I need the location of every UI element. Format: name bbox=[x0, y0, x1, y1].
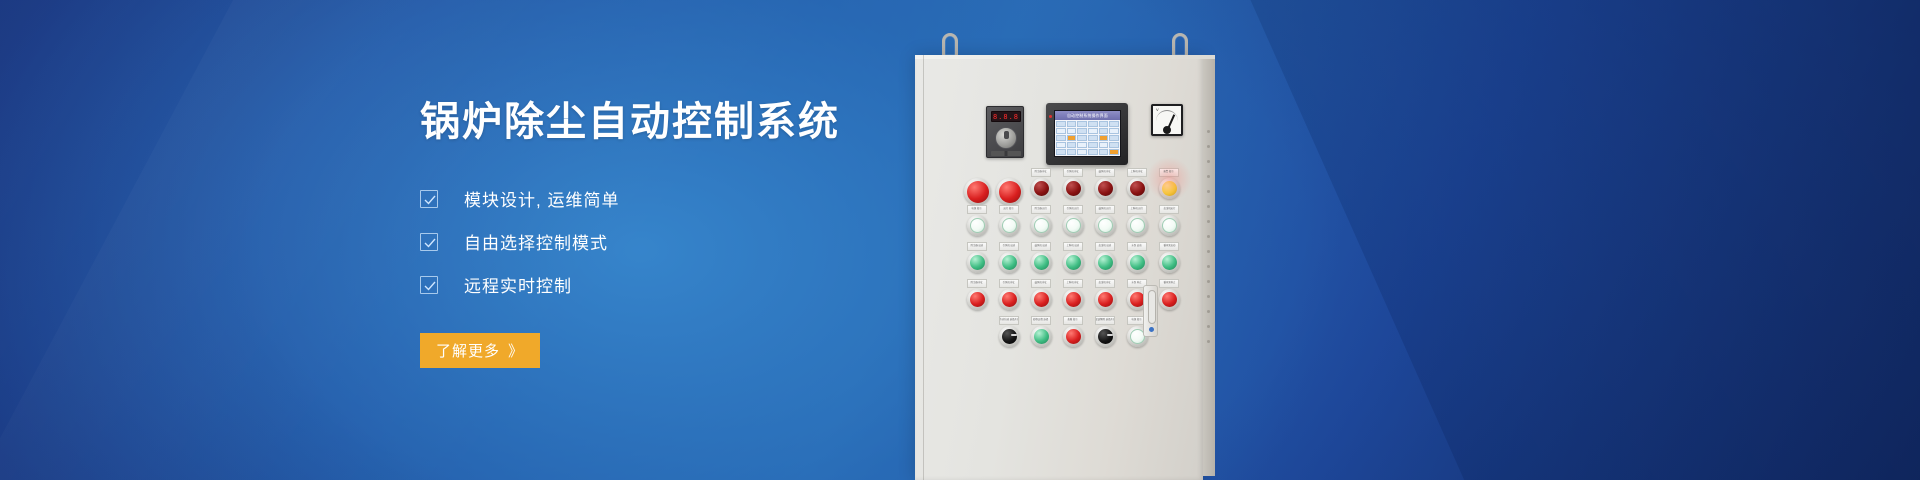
panel-button-body[interactable] bbox=[967, 289, 988, 310]
panel-button-body[interactable] bbox=[1031, 326, 1052, 347]
feature-label: 模块设计, 运维简单 bbox=[464, 186, 619, 211]
panel-button[interactable]: 鼓风机 停止 bbox=[1028, 279, 1054, 310]
feature-label: 自由选择控制模式 bbox=[464, 229, 608, 254]
hero-banner: 锅炉除尘自动控制系统 模块设计, 运维简单 自由选择控制模式 bbox=[0, 0, 1920, 480]
panel-button[interactable]: 出渣机 启动 bbox=[1092, 242, 1118, 273]
panel-button-tag-text: 出渣机 停止 bbox=[1099, 282, 1111, 285]
panel-button-body[interactable] bbox=[1095, 326, 1116, 347]
panel-button[interactable]: 上料机 启动 bbox=[1060, 242, 1086, 273]
panel-button-tag-text: 上料机 停止 bbox=[1067, 282, 1079, 285]
panel-button-tag-text: 故障 指示 bbox=[1068, 319, 1078, 322]
handle-slot bbox=[1148, 290, 1156, 324]
panel-button-body[interactable] bbox=[964, 178, 991, 205]
panel-button[interactable]: 急停 bbox=[964, 168, 990, 205]
panel-button-tag-text: 除尘器 停止 bbox=[1035, 171, 1047, 174]
panel-button-body[interactable] bbox=[996, 178, 1023, 205]
panel-button-lamp bbox=[967, 181, 989, 203]
panel-button-body[interactable] bbox=[1159, 252, 1180, 273]
panel-button-body[interactable] bbox=[999, 326, 1020, 347]
panel-button-lamp bbox=[1162, 255, 1177, 270]
panel-button[interactable]: 电源 指示 bbox=[964, 205, 990, 236]
panel-button-tag-text: 鼓风机 运行 bbox=[1099, 208, 1111, 211]
panel-button-tag: 循环泵停止 bbox=[1159, 279, 1179, 288]
panel-button[interactable]: 水泵 启动 bbox=[1124, 242, 1150, 273]
panel-button[interactable]: 除尘器 停止 bbox=[964, 279, 990, 310]
panel-button-tag-text: 循环泵启动 bbox=[1163, 245, 1175, 248]
panel-button-lamp bbox=[970, 292, 985, 307]
panel-button-body[interactable] bbox=[967, 252, 988, 273]
chevron-right-icon: 》 bbox=[508, 340, 524, 361]
panel-button-tag-text: 鼓风机 停止 bbox=[1099, 171, 1111, 174]
panel-button[interactable]: 就地/远程 选择 bbox=[1028, 316, 1054, 347]
panel-button[interactable]: 连锁/解除 选择开关 bbox=[1092, 316, 1118, 347]
panel-button-body[interactable] bbox=[999, 215, 1020, 236]
panel-button[interactable]: 鼓风机 启动 bbox=[1028, 242, 1054, 273]
panel-button[interactable]: 鼓风机 运行 bbox=[1092, 205, 1118, 236]
panel-button-body[interactable] bbox=[1031, 289, 1052, 310]
panel-button-tag: 出渣机 启动 bbox=[1095, 242, 1115, 251]
panel-button-tag: 故障 指示 bbox=[1063, 316, 1083, 325]
check-box-icon bbox=[420, 276, 438, 294]
panel-button-lamp bbox=[1002, 255, 1017, 270]
panel-button-body[interactable] bbox=[1063, 178, 1084, 199]
panel-button[interactable]: 引风机 停止 bbox=[1060, 168, 1086, 199]
panel-button-lamp bbox=[1162, 218, 1177, 233]
door-lock-icon[interactable] bbox=[1149, 327, 1154, 332]
panel-button-tag-text: 电源 指示 bbox=[972, 208, 982, 211]
panel-button-tag: 除尘器 停止 bbox=[1031, 168, 1051, 177]
feature-item-1: 模块设计, 运维简单 bbox=[420, 182, 980, 215]
panel-button-body[interactable] bbox=[1127, 178, 1148, 199]
panel-button-body[interactable] bbox=[1063, 215, 1084, 236]
door-handle[interactable] bbox=[1143, 285, 1158, 337]
panel-button-lamp bbox=[1002, 292, 1017, 307]
panel-button-tag-text: 除尘器 停止 bbox=[971, 282, 983, 285]
panel-button-body[interactable] bbox=[1063, 252, 1084, 273]
panel-button-lamp bbox=[1066, 218, 1081, 233]
panel-button-body[interactable] bbox=[1095, 289, 1116, 310]
panel-button-lamp bbox=[970, 218, 985, 233]
panel-button-tag-text: 出渣机运行 bbox=[1163, 208, 1175, 211]
panel-button-tag-text: 出渣机 启动 bbox=[1099, 245, 1111, 248]
panel-button[interactable]: 出渣机运行 bbox=[1156, 205, 1182, 236]
panel-button-tag: 循环泵启动 bbox=[1159, 242, 1179, 251]
feature-item-3: 远程实时控制 bbox=[420, 268, 980, 301]
panel-button-tag: 上料机 停止 bbox=[1127, 168, 1147, 177]
panel-button-tag-text: 运行 指示 bbox=[1004, 208, 1014, 211]
cabinet-hinge-column bbox=[1207, 130, 1211, 355]
page-title: 锅炉除尘自动控制系统 bbox=[420, 100, 980, 144]
panel-button-tag: 就地/远程 选择 bbox=[1031, 316, 1051, 325]
panel-button-lamp bbox=[999, 181, 1021, 203]
feature-item-2: 自由选择控制模式 bbox=[420, 225, 980, 258]
panel-button-tag-text: 报警 指示 bbox=[1164, 171, 1174, 174]
panel-button-tag: 鼓风机 启动 bbox=[1031, 242, 1051, 251]
panel-button-tag-text: 除尘器 启动 bbox=[971, 245, 983, 248]
panel-button-tag-text: 引风机 启动 bbox=[1003, 245, 1015, 248]
panel-button-tag: 除尘器 停止 bbox=[967, 279, 987, 288]
panel-button-body[interactable] bbox=[999, 252, 1020, 273]
panel-button[interactable]: 出渣机 停止 bbox=[1092, 279, 1118, 310]
panel-button-lamp bbox=[1034, 181, 1049, 196]
panel-button-lamp bbox=[1066, 181, 1081, 196]
panel-button-tag: 报警 指示 bbox=[1159, 168, 1179, 177]
panel-button-body[interactable] bbox=[1159, 178, 1180, 199]
feature-list: 模块设计, 运维简单 自由选择控制模式 远程实时控制 bbox=[420, 182, 980, 301]
panel-button[interactable]: 上料机 停止 bbox=[1060, 279, 1086, 310]
panel-button-tag-text: 引风机 运行 bbox=[1067, 208, 1079, 211]
panel-button-tag: 连锁/解除 选择开关 bbox=[1095, 316, 1115, 325]
panel-button-tag-text: 鼓风机 启动 bbox=[1035, 245, 1047, 248]
panel-button-body[interactable] bbox=[1031, 252, 1052, 273]
learn-more-button[interactable]: 了解更多 》 bbox=[420, 333, 540, 368]
button-matrix: 急停复位除尘器 停止引风机 停止鼓风机 停止上料机 停止报警 指示电源 指示运行… bbox=[915, 0, 1203, 425]
panel-button-lamp bbox=[1162, 292, 1177, 307]
panel-button-tag-text: 就地/远程 选择 bbox=[1033, 319, 1048, 322]
panel-button-lamp bbox=[1034, 255, 1049, 270]
panel-button-lamp bbox=[1098, 255, 1113, 270]
panel-button-lamp bbox=[1130, 218, 1145, 233]
panel-button-tag-text: 除尘器 运行 bbox=[1035, 208, 1047, 211]
panel-button-lamp bbox=[1034, 329, 1049, 344]
check-box-icon bbox=[420, 233, 438, 251]
panel-button[interactable]: 循环泵停止 bbox=[1156, 279, 1182, 310]
panel-button-tag-text: 鼓风机 停止 bbox=[1035, 282, 1047, 285]
panel-button-lamp bbox=[1098, 218, 1113, 233]
panel-button-lamp bbox=[1098, 329, 1113, 344]
panel-button[interactable]: 故障 指示 bbox=[1060, 316, 1086, 347]
panel-button-tag: 鼓风机 停止 bbox=[1031, 279, 1051, 288]
panel-button[interactable]: 上料机 停止 bbox=[1124, 168, 1150, 199]
check-box-icon bbox=[420, 190, 438, 208]
hero-copy: 锅炉除尘自动控制系统 模块设计, 运维简单 自由选择控制模式 bbox=[420, 100, 980, 368]
panel-button-tag: 鼓风机 运行 bbox=[1095, 205, 1115, 214]
panel-button-body[interactable] bbox=[1159, 289, 1180, 310]
panel-button[interactable]: 除尘器 运行 bbox=[1028, 205, 1054, 236]
panel-button[interactable]: 引风机 启动 bbox=[996, 242, 1022, 273]
panel-button-lamp bbox=[1034, 292, 1049, 307]
panel-button-tag-text: 上料机 停止 bbox=[1131, 171, 1143, 174]
panel-button-lamp bbox=[1066, 292, 1081, 307]
panel-button-lamp bbox=[1130, 181, 1145, 196]
panel-button[interactable]: 手动/自动 选择开关 bbox=[996, 316, 1022, 347]
panel-button[interactable]: 复位 bbox=[996, 168, 1022, 205]
cta-label: 了解更多 bbox=[436, 340, 500, 361]
panel-button-tag: 出渣机运行 bbox=[1159, 205, 1179, 214]
panel-button-tag: 出渣机 停止 bbox=[1095, 279, 1115, 288]
panel-button-tag: 引风机 启动 bbox=[999, 242, 1019, 251]
feature-label: 远程实时控制 bbox=[464, 272, 572, 297]
panel-button-body[interactable] bbox=[1159, 215, 1180, 236]
panel-button[interactable]: 引风机 运行 bbox=[1060, 205, 1086, 236]
panel-button-tag: 上料机 停止 bbox=[1063, 279, 1083, 288]
panel-button-body[interactable] bbox=[999, 289, 1020, 310]
panel-button[interactable]: 除尘器 启动 bbox=[964, 242, 990, 273]
panel-button-lamp bbox=[1066, 255, 1081, 270]
panel-button-body[interactable] bbox=[967, 215, 988, 236]
panel-button-lamp bbox=[1098, 292, 1113, 307]
panel-button-lamp bbox=[1002, 329, 1017, 344]
panel-button-tag-text: 上料机 启动 bbox=[1067, 245, 1079, 248]
panel-button[interactable]: 报警 指示 bbox=[1156, 168, 1182, 199]
panel-button[interactable]: 上料机 运行 bbox=[1124, 205, 1150, 236]
panel-button-tag-text: 连锁/解除 选择开关 bbox=[1095, 319, 1115, 322]
panel-button-tag: 电源 指示 bbox=[967, 205, 987, 214]
panel-button-body[interactable] bbox=[1095, 215, 1116, 236]
panel-button-tag: 引风机 停止 bbox=[999, 279, 1019, 288]
panel-button-lamp bbox=[1034, 218, 1049, 233]
panel-button-tag: 引风机 停止 bbox=[1063, 168, 1083, 177]
panel-button-tag: 水泵 启动 bbox=[1127, 242, 1147, 251]
panel-button-tag: 除尘器 启动 bbox=[967, 242, 987, 251]
panel-button-lamp bbox=[1066, 329, 1081, 344]
panel-button-tag: 鼓风机 停止 bbox=[1095, 168, 1115, 177]
panel-button-tag-text: 引风机 停止 bbox=[1003, 282, 1015, 285]
panel-button[interactable]: 引风机 停止 bbox=[996, 279, 1022, 310]
panel-button-tag-text: 电源 指示 bbox=[1132, 319, 1142, 322]
panel-button-body[interactable] bbox=[1031, 178, 1052, 199]
panel-button-lamp bbox=[970, 255, 985, 270]
panel-button-lamp bbox=[1002, 218, 1017, 233]
panel-button-tag: 引风机 运行 bbox=[1063, 205, 1083, 214]
panel-button-body[interactable] bbox=[1095, 252, 1116, 273]
panel-button[interactable]: 鼓风机 停止 bbox=[1092, 168, 1118, 199]
panel-button[interactable]: 除尘器 停止 bbox=[1028, 168, 1054, 199]
panel-button-tag-text: 水泵 启动 bbox=[1132, 245, 1142, 248]
panel-button[interactable]: 运行 指示 bbox=[996, 205, 1022, 236]
panel-button-tag-text: 引风机 停止 bbox=[1067, 171, 1079, 174]
panel-button-tag-text: 循环泵停止 bbox=[1163, 282, 1175, 285]
panel-button-body[interactable] bbox=[1095, 178, 1116, 199]
panel-button-lamp bbox=[1098, 181, 1113, 196]
panel-button-body[interactable] bbox=[1063, 326, 1084, 347]
panel-button-tag: 上料机 运行 bbox=[1127, 205, 1147, 214]
panel-button-tag: 上料机 启动 bbox=[1063, 242, 1083, 251]
panel-button[interactable]: 循环泵启动 bbox=[1156, 242, 1182, 273]
panel-button-lamp bbox=[1130, 255, 1145, 270]
panel-button-tag: 除尘器 运行 bbox=[1031, 205, 1051, 214]
panel-button-tag: 手动/自动 选择开关 bbox=[999, 316, 1019, 325]
panel-button-body[interactable] bbox=[1063, 289, 1084, 310]
panel-button-tag: 运行 指示 bbox=[999, 205, 1019, 214]
panel-button-body[interactable] bbox=[1031, 215, 1052, 236]
panel-button-tag-text: 手动/自动 选择开关 bbox=[999, 319, 1019, 322]
panel-button-tag-text: 水泵 停止 bbox=[1132, 282, 1142, 285]
panel-button-tag-text: 上料机 运行 bbox=[1131, 208, 1143, 211]
control-cabinet-image: 8.8.8 自动控制系统操作界面 V 急停复位除尘 bbox=[915, 0, 1920, 480]
panel-button-body[interactable] bbox=[1127, 252, 1148, 273]
panel-button-body[interactable] bbox=[1127, 215, 1148, 236]
panel-button-lamp bbox=[1162, 181, 1177, 196]
